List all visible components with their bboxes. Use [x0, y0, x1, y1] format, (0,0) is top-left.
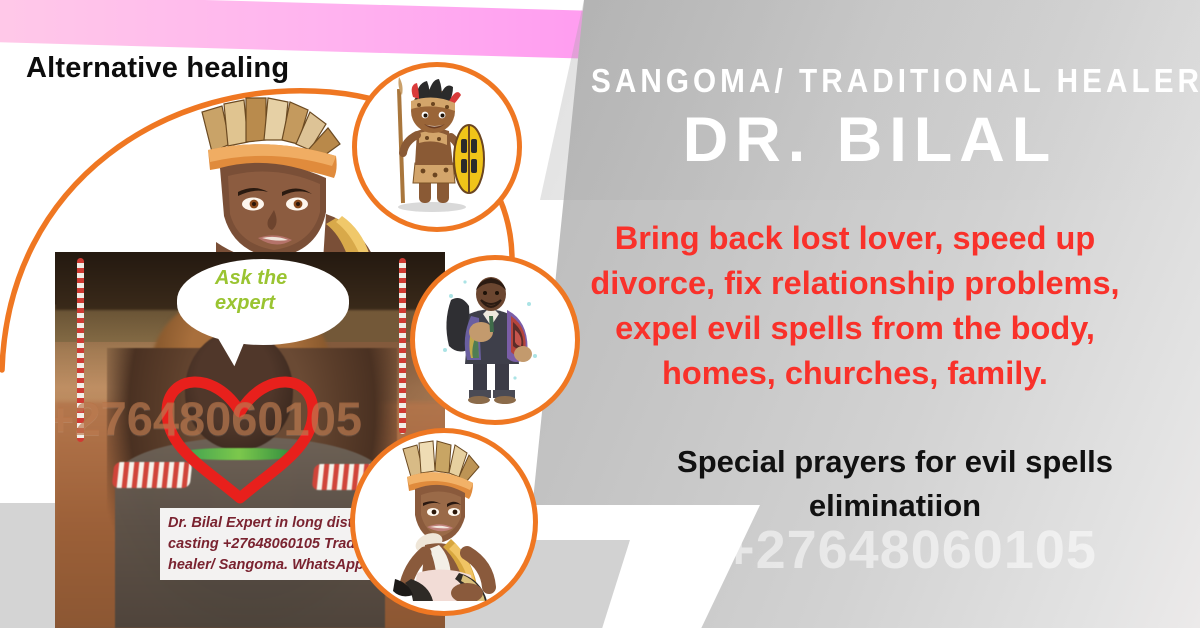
poster-headline: DR. BILAL — [560, 104, 1180, 176]
services-line-2: divorce, fix relationship problems, — [530, 261, 1180, 306]
prayers-line-1: Special prayers for evil spells — [600, 440, 1190, 484]
photo-phone-watermark: +27648060105 — [55, 391, 445, 446]
speech-bubble-text: Ask the expert — [195, 266, 345, 316]
services-line-3: expel evil spells from the body, — [530, 306, 1180, 351]
cartoon-zulu-warrior-icon — [357, 67, 507, 217]
services-text: Bring back lost lover, speed up divorce,… — [530, 216, 1180, 396]
poster-canvas: Alternative healing — [0, 0, 1200, 628]
phone-number-watermark: +27648060105 — [630, 519, 1190, 581]
crouching-warrior-icon — [355, 433, 523, 601]
services-line-4: homes, churches, family. — [530, 351, 1180, 396]
bubble-line-1: Ask the — [215, 266, 345, 291]
bubble-line-2: expert — [215, 291, 345, 316]
badge-circle-cartoon-warrior[interactable] — [352, 62, 522, 232]
page-title: Alternative healing — [26, 52, 289, 85]
special-prayers-text: Special prayers for evil spells eliminat… — [600, 440, 1190, 528]
poster-kicker: SANGOMA/ TRADITIONAL HEALER — [591, 62, 1149, 100]
badge-circle-crouching-warrior[interactable] — [350, 428, 538, 616]
services-line-1: Bring back lost lover, speed up — [530, 216, 1180, 261]
